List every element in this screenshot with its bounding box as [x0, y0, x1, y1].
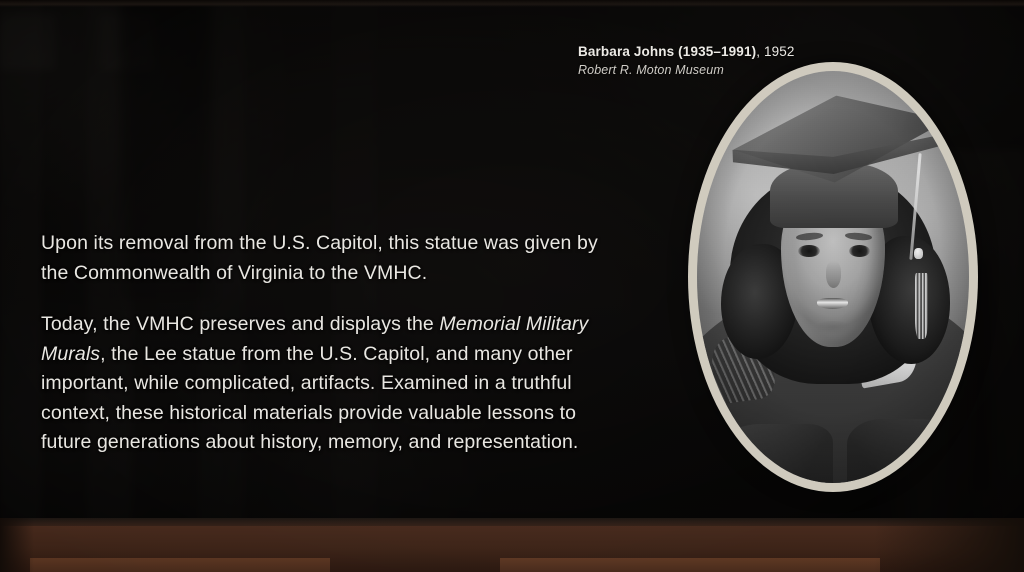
paragraph-1-run-1: Upon its removal from the U.S. Capitol, … — [41, 232, 598, 284]
rail-seat-right — [500, 558, 880, 572]
rail-shadow-right — [874, 518, 1024, 572]
portrait-image — [697, 71, 969, 483]
wooden-bench-rail — [0, 518, 1024, 572]
paragraph-2-run-3: , the Lee statue from the U.S. Capitol, … — [41, 343, 578, 454]
portrait-film-grain — [697, 71, 969, 483]
exhibit-body-copy: Upon its removal from the U.S. Capitol, … — [41, 229, 626, 458]
paragraph-2: Today, the VMHC preserves and displays t… — [41, 310, 626, 458]
panel-top-edge — [0, 0, 1024, 7]
paragraph-1: Upon its removal from the U.S. Capitol, … — [41, 229, 626, 288]
caption-title-line: Barbara Johns (1935–1991), 1952 — [578, 43, 838, 60]
rail-shadow-left — [0, 518, 34, 572]
caption-year: , 1952 — [756, 44, 794, 59]
paragraph-2-run-1: Today, the VMHC preserves and displays t… — [41, 313, 439, 335]
museum-exhibit-panel: Barbara Johns (1935–1991), 1952 Robert R… — [0, 0, 1024, 572]
caption-subject-name: Barbara Johns (1935–1991) — [578, 44, 756, 59]
rail-seat-left — [30, 558, 330, 572]
portrait-oval-frame — [688, 62, 978, 492]
